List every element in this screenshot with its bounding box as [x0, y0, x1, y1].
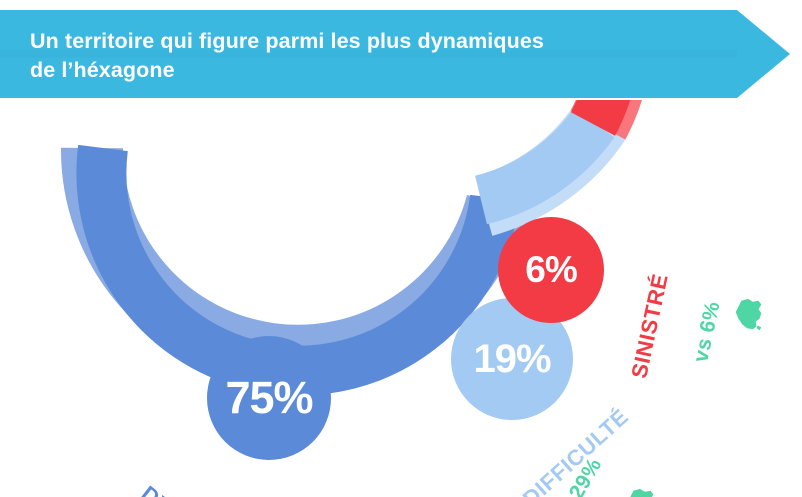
france-map-icon [730, 296, 768, 334]
value-bubble-dynamique: 75% [207, 336, 331, 460]
header-banner: Un territoire qui figure parmi les plus … [0, 10, 790, 98]
value-label-sinistre: 6% [525, 249, 576, 291]
value-label-dynamique: 75% [225, 372, 312, 424]
donut-chart: 75% 19% 6% DYNAMIQUE vs 65% EN DIFFICULT… [0, 100, 802, 497]
segment-sinistre [593, 100, 609, 124]
value-bubble-sinistre: 6% [498, 217, 604, 323]
value-label-en-difficulte: 19% [473, 337, 550, 382]
infographic-page: Un territoire qui figure parmi les plus … [0, 0, 802, 497]
france-map-icon [622, 486, 660, 497]
arc-graphic [0, 100, 802, 497]
page-title: Un territoire qui figure parmi les plus … [30, 27, 640, 86]
